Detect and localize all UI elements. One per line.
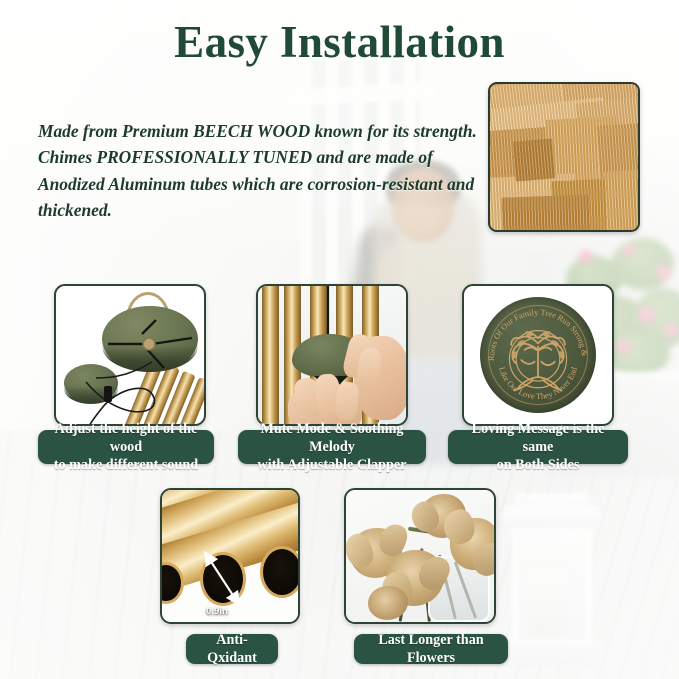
caption-line-1: Anti-Qxidant xyxy=(195,631,269,667)
caption-tubes: Anti-Qxidant xyxy=(186,634,278,664)
panel-flowers-image[interactable] xyxy=(344,488,496,624)
caption-line-2: on Both Sides xyxy=(497,457,580,473)
diameter-arrow-icon xyxy=(198,548,254,612)
caption-line-1: Adjust the height of the wood xyxy=(55,421,198,455)
panel-wood-disc-image[interactable] xyxy=(54,284,206,426)
tree-of-life-medallion: The Roots Of Our Family Tree Run Strong … xyxy=(480,297,596,413)
beech-wood-stack-image xyxy=(488,82,640,232)
hanging-cord xyxy=(56,286,206,426)
caption-medallion: Loving Message is the same on Both Sides xyxy=(448,430,628,464)
caption-line-1: Mute Mode & Soothing Melody xyxy=(260,421,403,455)
chime-tube xyxy=(262,284,279,426)
tube-opening xyxy=(260,546,300,598)
caption-flowers: Last Longer than Flowers xyxy=(354,634,508,664)
caption-clapper: Mute Mode & Soothing Melody with Adjusta… xyxy=(238,430,426,464)
caption-line-1: Loving Message is the same xyxy=(472,421,605,455)
panel-clapper-image[interactable] xyxy=(256,284,408,426)
caption-line-1: Last Longer than Flowers xyxy=(363,631,499,667)
tube-diameter-label: 0.9in xyxy=(206,606,228,617)
panel-tubes-image[interactable]: 0.9in xyxy=(160,488,300,624)
page-title: Easy Installation xyxy=(0,18,679,67)
tree-of-life-icon xyxy=(496,313,580,397)
panel-medallion-image[interactable]: The Roots Of Our Family Tree Run Strong … xyxy=(462,284,614,426)
infographic-root: Easy Installation Made from Premium BEEC… xyxy=(0,0,679,679)
caption-line-2: to make different sound xyxy=(54,457,198,473)
caption-wood-disc: Adjust the height of the wood to make di… xyxy=(38,430,214,464)
caption-line-2: with Adjustable Clapper xyxy=(258,457,407,473)
body-description: Made from Premium BEECH WOOD known for i… xyxy=(38,118,478,224)
